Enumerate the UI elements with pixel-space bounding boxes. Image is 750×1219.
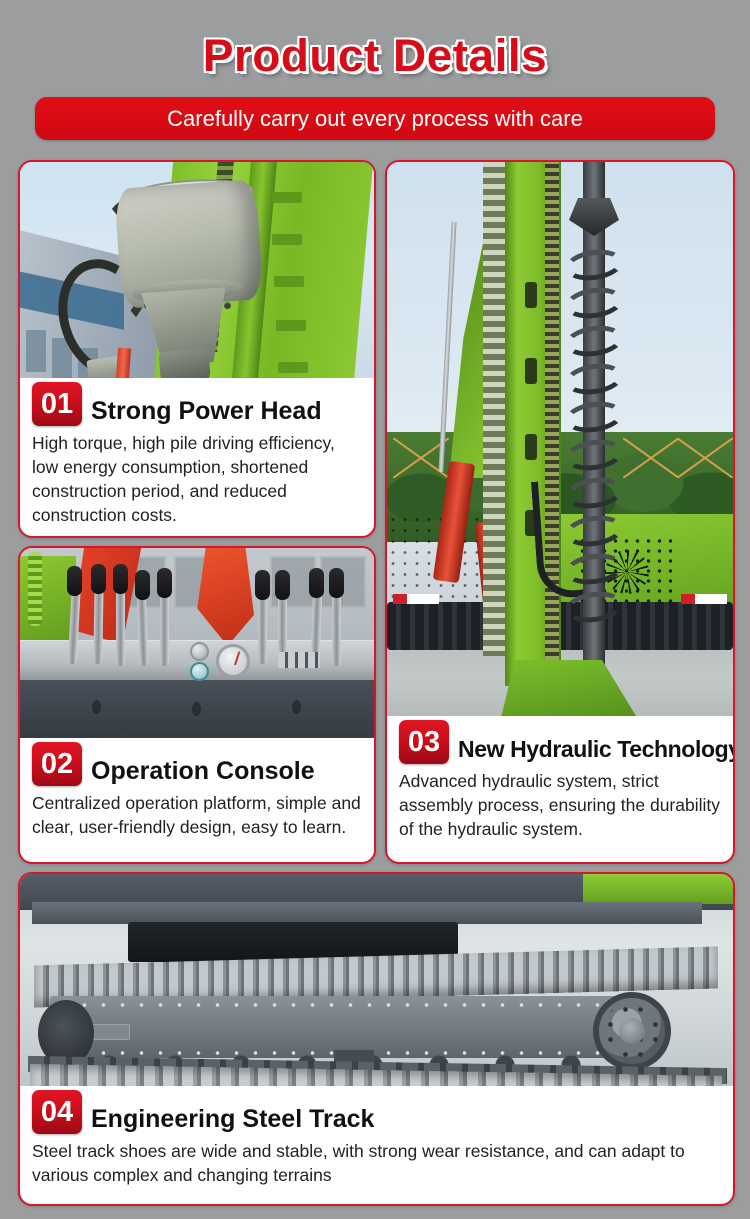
lever-knob[interactable] (113, 564, 128, 594)
photo-hydraulic-rig (387, 162, 733, 742)
mast-lug (272, 192, 302, 203)
auger-head (569, 198, 619, 236)
switch-bank[interactable] (278, 652, 320, 668)
caption-heading: 03 New Hydraulic Technology (399, 720, 721, 764)
feature-card-04[interactable]: 04 Engineering Steel Track Steel track s… (18, 872, 735, 1206)
card-description: High torque, high pile driving efficienc… (32, 431, 362, 527)
mast-slot (525, 358, 537, 384)
auger-flight (563, 360, 625, 398)
card-caption: 02 Operation Console Centralized operati… (20, 764, 374, 849)
feature-card-03[interactable]: 03 New Hydraulic Technology Advanced hyd… (385, 160, 735, 864)
mast-slot (525, 282, 537, 308)
green-body-corner (583, 874, 733, 904)
warning-label (393, 594, 439, 604)
card-description: Advanced hydraulic system, strict assemb… (399, 769, 721, 841)
card-caption: 04 Engineering Steel Track Steel track s… (20, 1112, 733, 1197)
subtitle-banner: Carefully carry out every process with c… (35, 97, 715, 140)
card-caption: 01 Strong Power Head High torque, high p… (20, 404, 374, 537)
photo-power-head (20, 162, 374, 404)
drive-sprocket (593, 992, 671, 1070)
mast-slot (525, 434, 537, 460)
lever-knob[interactable] (67, 566, 82, 596)
photo-steel-track (20, 874, 733, 1112)
sprocket-hub (619, 1018, 645, 1044)
caption-heading: 02 Operation Console (32, 742, 362, 786)
card-description: Centralized operation platform, simple a… (32, 791, 362, 839)
step-badge: 03 (399, 720, 449, 764)
feature-card-02[interactable]: 02 Operation Console Centralized operati… (18, 546, 376, 864)
lever-knob[interactable] (329, 568, 344, 598)
mast-lug (276, 320, 306, 331)
lever-knob[interactable] (309, 568, 324, 598)
caption-heading: 01 Strong Power Head (32, 382, 362, 426)
auger-flight (563, 284, 625, 322)
frame-rivets (56, 1002, 634, 1008)
panel-screw (92, 700, 101, 714)
warning-label (681, 594, 727, 604)
photo-operation-console (20, 548, 374, 764)
feature-card-01[interactable]: 01 Strong Power Head High torque, high p… (18, 160, 376, 538)
step-badge: 02 (32, 742, 82, 786)
card-title: Operation Console (91, 757, 315, 786)
flange-bolt (224, 302, 231, 309)
step-badge: 01 (32, 382, 82, 426)
auger-flight (563, 322, 625, 360)
indicator-dial[interactable] (190, 662, 209, 681)
lever-knob[interactable] (91, 564, 106, 594)
scaffold-frame (677, 438, 733, 478)
subtitle-text: Carefully carry out every process with c… (167, 106, 583, 132)
panel-screw (192, 702, 201, 716)
mast-lug (272, 234, 302, 245)
page-title: Product Details (0, 0, 750, 84)
mast-lug (278, 362, 308, 373)
gauge-needle (234, 651, 240, 665)
deck-beam (32, 902, 702, 924)
card-title: Engineering Steel Track (91, 1105, 374, 1134)
lever-knob[interactable] (157, 568, 172, 598)
step-badge: 04 (32, 1090, 82, 1134)
indicator-dial[interactable] (190, 642, 209, 661)
card-title: New Hydraulic Technology (458, 735, 735, 764)
caption-heading: 04 Engineering Steel Track (32, 1090, 721, 1134)
mast-lug (274, 276, 304, 287)
drive-chain (545, 162, 559, 686)
auger-flight (563, 246, 625, 284)
auger-flight (563, 398, 625, 436)
window-pane (26, 330, 46, 372)
lever-knob[interactable] (275, 570, 290, 600)
card-caption: 03 New Hydraulic Technology Advanced hyd… (387, 742, 733, 851)
lever-knob[interactable] (255, 570, 270, 600)
card-title: Strong Power Head (91, 397, 322, 426)
scaffold-frame (623, 438, 679, 478)
green-coil-hose (28, 552, 42, 626)
pressure-gauge (216, 644, 250, 678)
panel-screw (292, 700, 301, 714)
lever-knob[interactable] (135, 570, 150, 600)
card-description: Steel track shoes are wide and stable, w… (32, 1139, 721, 1187)
